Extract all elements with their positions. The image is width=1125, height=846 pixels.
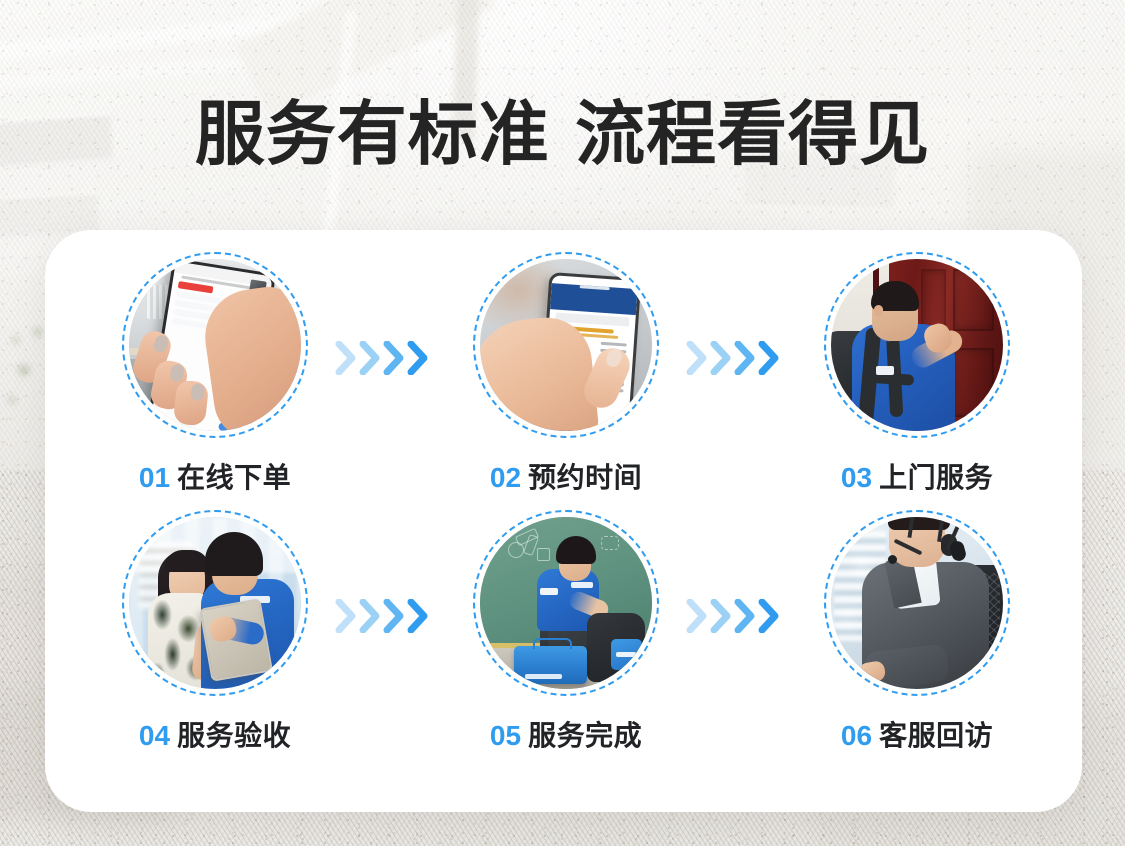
step-item[interactable]: 02预约时间: [451, 252, 681, 510]
step-number: 01: [139, 462, 170, 493]
chevron-right-icon: [734, 341, 756, 375]
page-title: 服务有标准 流程看得见: [0, 78, 1125, 179]
process-row-1: 01在线下单: [45, 252, 1082, 510]
chevron-right-icon: [383, 341, 405, 375]
step-photo-ring: [824, 510, 1010, 696]
step-caption: 02预约时间: [451, 456, 681, 496]
chevron-right-icon: [758, 599, 780, 633]
chevron-right-icon: [407, 341, 429, 375]
photo-book-time-slot: [480, 259, 652, 431]
step-photo-ring: [122, 510, 308, 696]
step-item[interactable]: 04服务验收: [100, 510, 330, 768]
chevron-right-icon: [758, 341, 780, 375]
flow-arrow-group: [686, 593, 782, 639]
chevron-right-icon: [359, 341, 381, 375]
step-photo-ring: [473, 252, 659, 438]
flow-arrow-group: [335, 335, 431, 381]
promo-page: 服务有标准 流程看得见: [0, 0, 1125, 846]
step-number: 04: [139, 720, 170, 751]
step-label: 上门服务: [879, 461, 993, 494]
step-number: 06: [841, 720, 872, 751]
photo-service-acceptance: [129, 517, 301, 689]
step-photo-ring: [122, 252, 308, 438]
chevron-right-icon: [383, 599, 405, 633]
step-number: 02: [490, 462, 521, 493]
step-caption: 03上门服务: [802, 456, 1032, 496]
step-label: 预约时间: [528, 461, 642, 494]
photo-service-completed: [480, 517, 652, 689]
chevron-right-icon: [407, 599, 429, 633]
process-row-2: 04服务验收: [45, 510, 1082, 768]
photo-online-order: [129, 259, 301, 431]
chevron-right-icon: [710, 341, 732, 375]
step-item[interactable]: 05服务完成: [451, 510, 681, 768]
chevron-right-icon: [734, 599, 756, 633]
step-item[interactable]: 03上门服务: [802, 252, 1032, 510]
chevron-right-icon: [686, 341, 708, 375]
step-number: 05: [490, 720, 521, 751]
step-label: 服务验收: [177, 719, 291, 752]
chevron-right-icon: [359, 599, 381, 633]
step-photo-ring: [824, 252, 1010, 438]
step-item[interactable]: 06客服回访: [802, 510, 1032, 768]
chevron-right-icon: [710, 599, 732, 633]
step-label: 在线下单: [177, 461, 291, 494]
step-number: 03: [841, 462, 872, 493]
step-label: 服务完成: [528, 719, 642, 752]
step-caption: 04服务验收: [100, 714, 330, 754]
flow-arrow-group: [335, 593, 431, 639]
step-caption: 06客服回访: [802, 714, 1032, 754]
flow-arrow-group: [686, 335, 782, 381]
chevron-right-icon: [335, 341, 357, 375]
process-card: 01在线下单: [45, 230, 1082, 812]
step-caption: 05服务完成: [451, 714, 681, 754]
step-caption: 01在线下单: [100, 456, 330, 496]
chevron-right-icon: [335, 599, 357, 633]
photo-door-to-door-service: [831, 259, 1003, 431]
step-item[interactable]: 01在线下单: [100, 252, 330, 510]
step-photo-ring: [473, 510, 659, 696]
chevron-right-icon: [686, 599, 708, 633]
step-label: 客服回访: [879, 719, 993, 752]
photo-customer-service-callback: [831, 517, 1003, 689]
